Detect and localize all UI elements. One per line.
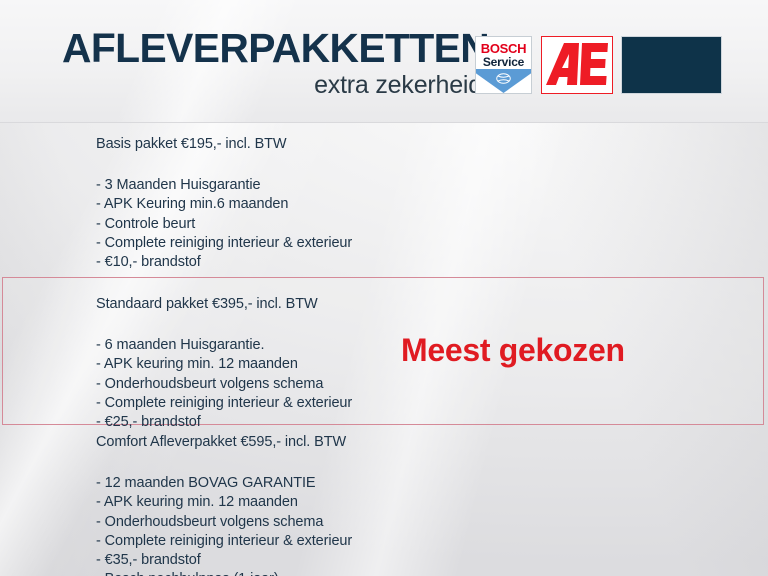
list-item: - Controle beurt (96, 215, 696, 234)
list-item: - €10,- brandstof (96, 253, 696, 272)
list-item: - APK keuring min. 12 maanden (96, 493, 696, 512)
package-standaard: Standaard pakket €395,- incl. BTW - 6 ma… (96, 294, 696, 432)
list-item: - APK keuring min. 12 maanden (96, 355, 696, 374)
package-title: Comfort Afleverpakket €595,- incl. BTW (96, 432, 696, 452)
list-item: - 6 maanden Huisgarantie. (96, 336, 696, 355)
list-item: - €25,- brandstof (96, 413, 696, 432)
ae-monogram-icon (546, 39, 610, 89)
list-item: - Complete reiniging interieur & exterie… (96, 532, 696, 551)
package-title: Basis pakket €195,- incl. BTW (96, 134, 696, 154)
list-item: - Onderhoudsbeurt volgens schema (96, 375, 696, 394)
navy-placeholder-block (621, 36, 722, 94)
page-subtitle: extra zekerheid (314, 70, 482, 100)
package-feature-list: - 12 maanden BOVAG GARANTIE - APK keurin… (96, 474, 696, 576)
brand-lockup: AFLEVERPAKKETTEN extra zekerheid (62, 24, 482, 102)
list-item: - Bosch pechhulppas (1 jaar) (96, 570, 696, 576)
ae-logo (541, 36, 613, 94)
slide-root: AFLEVERPAKKETTEN extra zekerheid BOSCH S… (0, 0, 768, 576)
package-feature-list: - 3 Maanden Huisgarantie - APK Keuring m… (96, 176, 696, 272)
bosch-service-logo: BOSCH Service (475, 36, 532, 94)
list-item: - APK Keuring min.6 maanden (96, 195, 696, 214)
list-item: - 12 maanden BOVAG GARANTIE (96, 474, 696, 493)
list-item: - Complete reiniging interieur & exterie… (96, 394, 696, 413)
page-title: AFLEVERPAKKETTEN (62, 24, 480, 72)
header-divider (0, 122, 768, 123)
list-item: - Onderhoudsbeurt volgens schema (96, 513, 696, 532)
bosch-service-label: Service (476, 56, 531, 69)
package-feature-list: - 6 maanden Huisgarantie. - APK keuring … (96, 336, 696, 432)
package-title: Standaard pakket €395,- incl. BTW (96, 294, 696, 314)
bosch-armature-icon (496, 73, 511, 84)
package-comfort: Comfort Afleverpakket €595,- incl. BTW -… (96, 432, 696, 576)
header-banner: AFLEVERPAKKETTEN extra zekerheid BOSCH S… (0, 0, 768, 123)
bosch-wordmark: BOSCH (476, 42, 531, 56)
list-item: - €35,- brandstof (96, 551, 696, 570)
list-item: - 3 Maanden Huisgarantie (96, 176, 696, 195)
list-item: - Complete reiniging interieur & exterie… (96, 234, 696, 253)
package-basis: Basis pakket €195,- incl. BTW - 3 Maande… (96, 134, 696, 272)
